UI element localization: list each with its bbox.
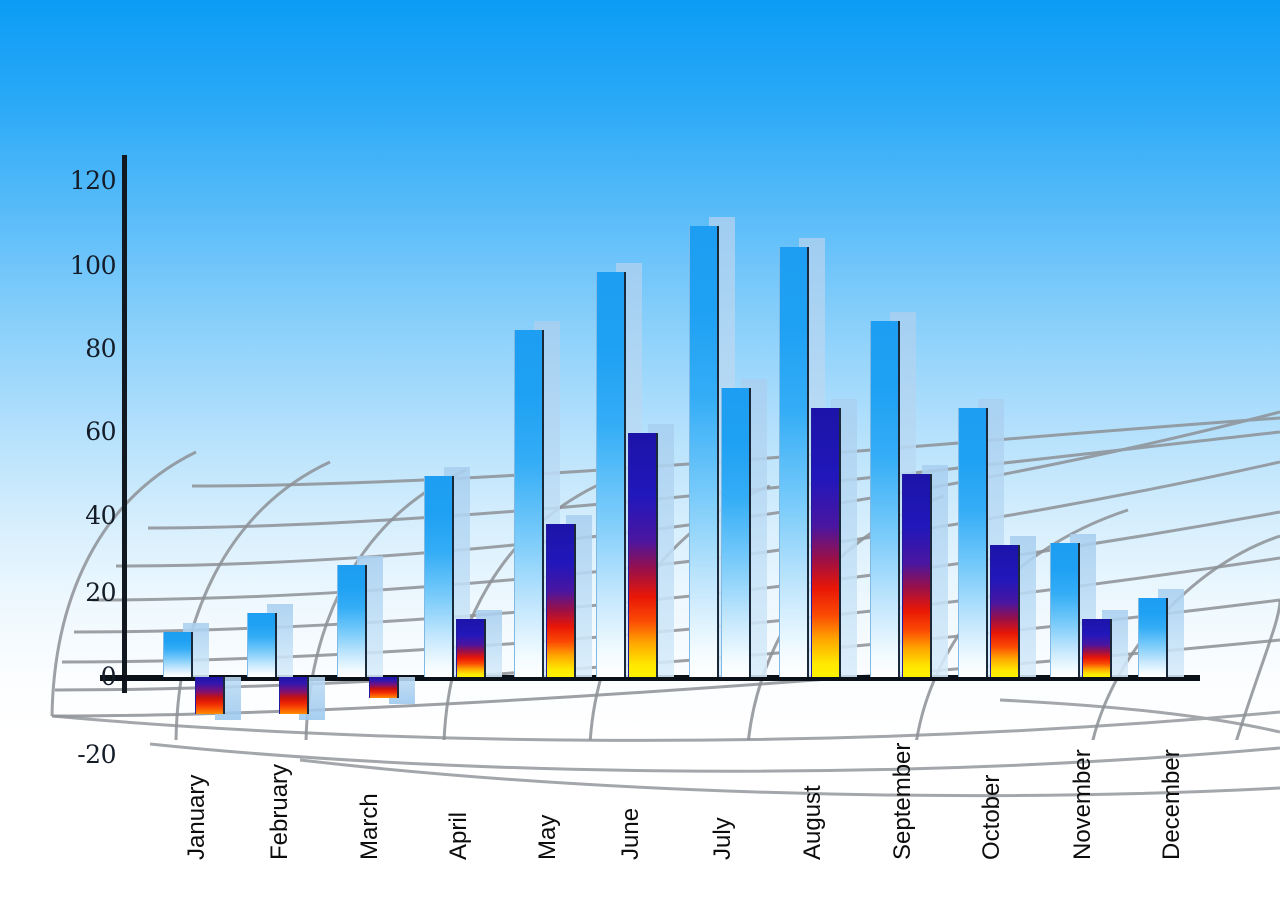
y-tick-100: 100: [46, 253, 116, 278]
x-label-december: December: [1160, 749, 1184, 860]
bar-june-thermometer[interactable]: [628, 433, 658, 677]
x-label-october: October: [980, 775, 1004, 860]
bar-june-blue[interactable]: [596, 272, 626, 677]
x-label-march: March: [358, 793, 382, 860]
y-tick-minus-20: -20: [46, 742, 116, 767]
bar-may-blue[interactable]: [514, 330, 544, 677]
bar-december-blue[interactable]: [1138, 598, 1168, 677]
y-tick-120: 120: [46, 168, 116, 193]
y-tick-40: 40: [46, 503, 116, 528]
bar-october-blue[interactable]: [958, 408, 988, 677]
y-tick-60: 60: [46, 419, 116, 444]
bar-april-thermometer[interactable]: [456, 619, 486, 677]
x-label-june: June: [619, 808, 643, 860]
bar-july-blue[interactable]: [689, 226, 719, 677]
bar-february-thermometer[interactable]: [279, 677, 309, 714]
y-axis-line: [122, 155, 127, 693]
bar-january-blue[interactable]: [163, 632, 193, 677]
bar-august-blue[interactable]: [779, 247, 809, 677]
bar-august-thermometer[interactable]: [811, 408, 841, 677]
chart-root: 120 100 80 60 40 20 0 -20 JanuaryFebruar…: [0, 0, 1280, 905]
y-tick-20: 20: [46, 580, 116, 605]
bar-april-blue[interactable]: [424, 476, 454, 677]
x-label-january: January: [185, 775, 209, 860]
y-tick-0: 0: [46, 664, 116, 689]
x-label-november: November: [1071, 749, 1095, 860]
x-label-february: February: [268, 764, 292, 860]
bar-october-thermometer[interactable]: [990, 545, 1020, 677]
bar-may-thermometer[interactable]: [546, 524, 576, 677]
bar-november-thermometer[interactable]: [1082, 619, 1112, 677]
bar-january-thermometer[interactable]: [195, 677, 225, 714]
bar-september-blue[interactable]: [870, 321, 900, 677]
bar-july-blue-2[interactable]: [721, 388, 751, 677]
x-label-september: September: [891, 743, 915, 860]
y-tick-80: 80: [46, 336, 116, 361]
bar-march-blue[interactable]: [337, 565, 367, 677]
x-label-july: July: [711, 817, 735, 860]
x-label-may: May: [536, 815, 560, 860]
bar-february-blue[interactable]: [247, 613, 277, 677]
bar-november-blue[interactable]: [1050, 543, 1080, 677]
bar-september-thermometer[interactable]: [902, 474, 932, 677]
x-label-august: August: [801, 785, 825, 860]
x-label-april: April: [447, 812, 471, 860]
plot-area: 120 100 80 60 40 20 0 -20 JanuaryFebruar…: [0, 0, 1280, 905]
bar-march-thermometer[interactable]: [369, 677, 399, 698]
